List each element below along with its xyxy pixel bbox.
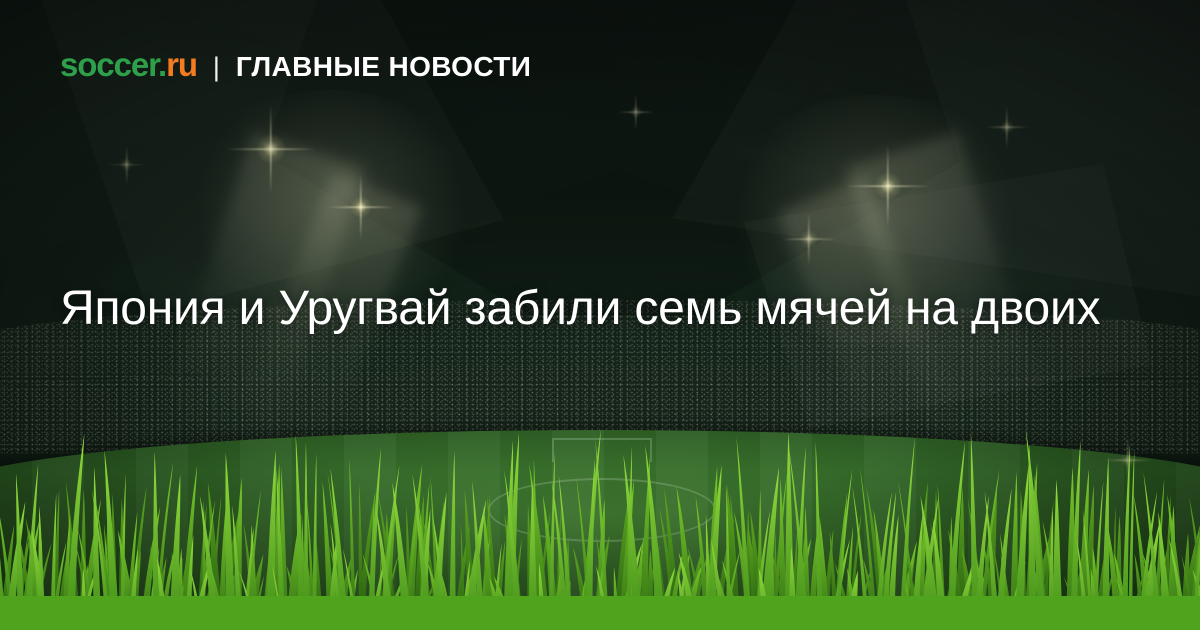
card-header: soccer.ru | ГЛАВНЫЕ НОВОСТИ [60, 48, 531, 81]
logo-word: soccer [60, 46, 158, 83]
site-logo[interactable]: soccer.ru [60, 48, 197, 81]
header-divider: | [213, 54, 220, 81]
share-card: soccer.ru | ГЛАВНЫЕ НОВОСТИ Япония и Уру… [0, 0, 1200, 630]
logo-tld: ru [166, 46, 197, 83]
header-kicker: ГЛАВНЫЕ НОВОСТИ [236, 53, 531, 81]
page-title: Япония и Уругвай забили семь мячей на дв… [60, 280, 1150, 337]
logo-dot: . [158, 46, 166, 83]
